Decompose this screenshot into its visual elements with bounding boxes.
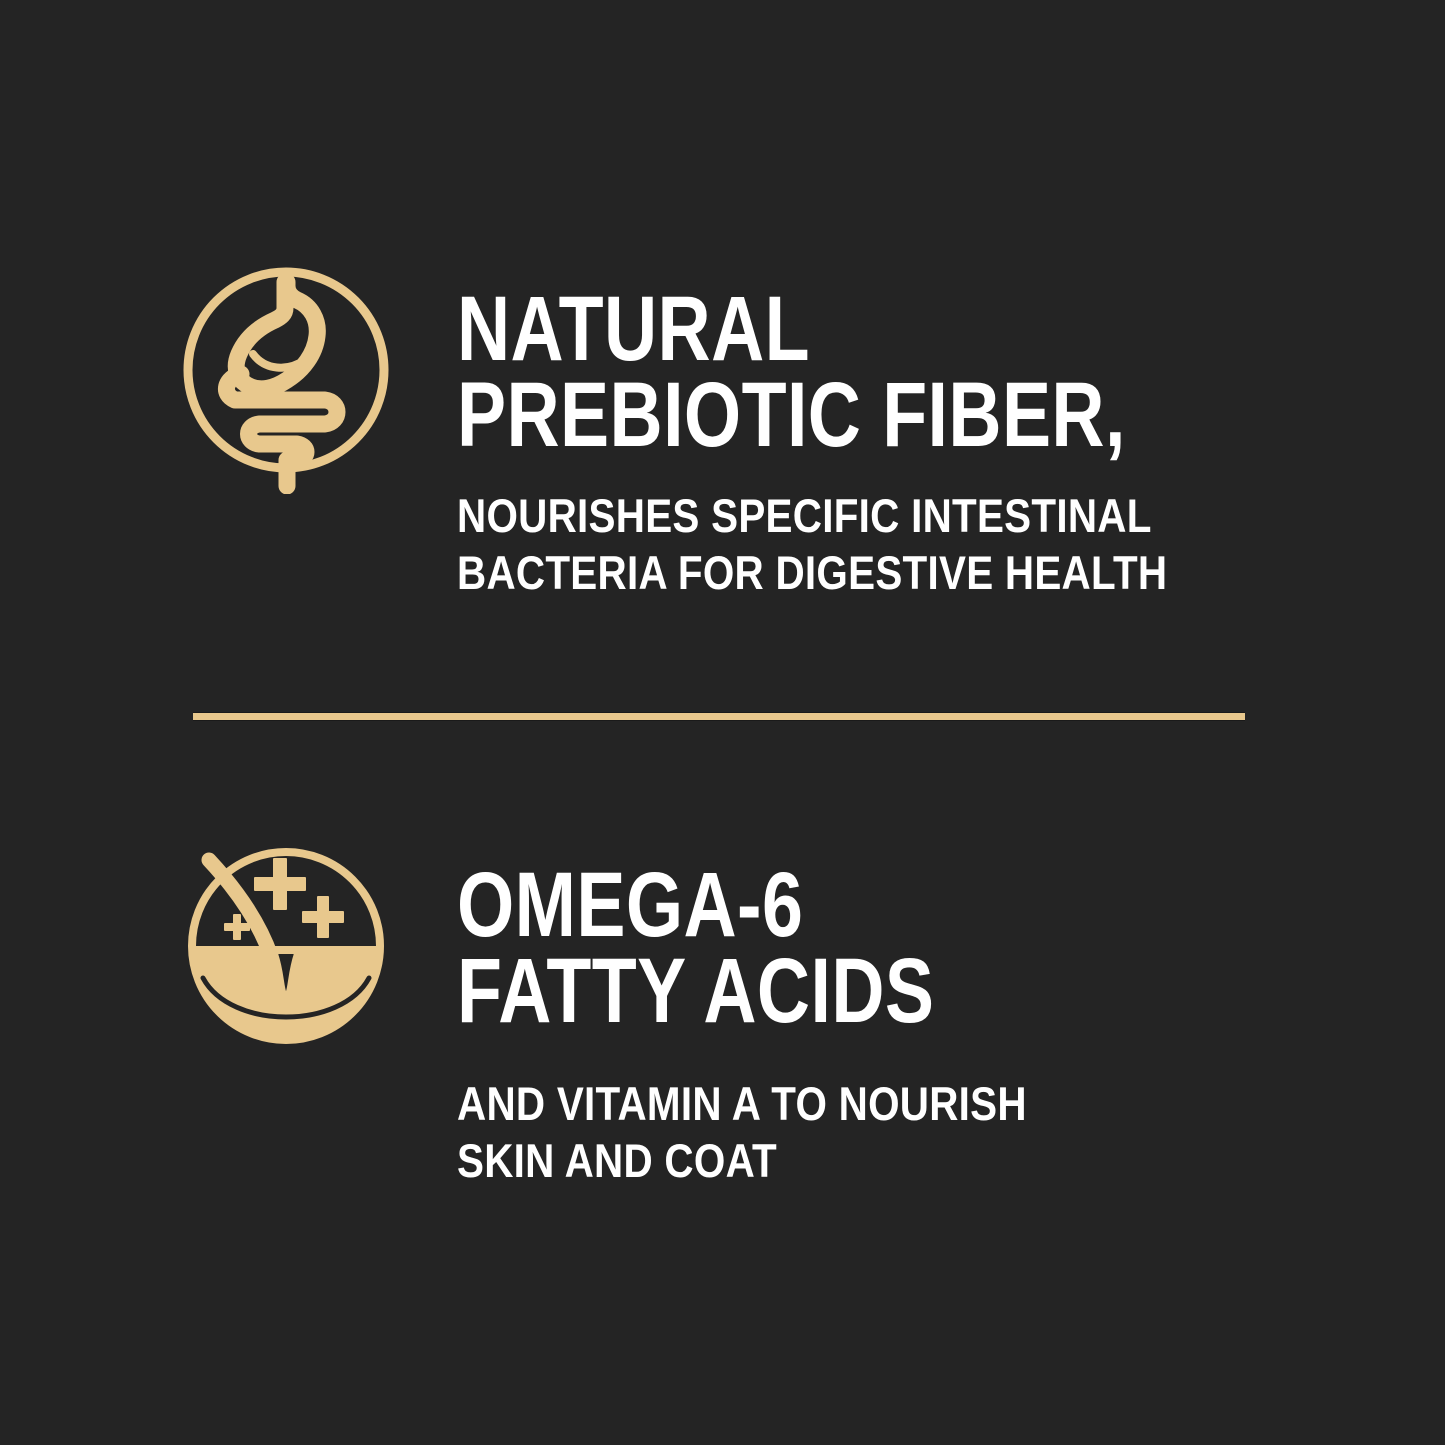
subline-line-2: SKIN AND COAT bbox=[457, 1132, 1027, 1189]
digestive-stomach-intestine-icon bbox=[175, 262, 397, 494]
benefit-block-omega-6: OMEGA-6 FATTY ACIDS AND VITAMIN A TO NOU… bbox=[175, 838, 1120, 1190]
headline-line-2: FATTY ACIDS bbox=[457, 948, 987, 1034]
skin-hair-follicle-icon bbox=[175, 838, 397, 1070]
sparkle-plus-large bbox=[254, 858, 306, 910]
subline-line-1: AND VITAMIN A TO NOURISH bbox=[457, 1075, 1027, 1132]
benefit-headline-omega-6: OMEGA-6 FATTY ACIDS bbox=[457, 862, 987, 1035]
benefit-subline-omega-6: AND VITAMIN A TO NOURISH SKIN AND COAT bbox=[457, 1075, 1027, 1190]
benefit-text-prebiotic-fiber: NATURAL PREBIOTIC FIBER, NOURISHES SPECI… bbox=[457, 262, 1293, 602]
headline-line-1: OMEGA-6 bbox=[457, 862, 987, 948]
benefit-subline-prebiotic-fiber: NOURISHES SPECIFIC INTESTINAL BACTERIA F… bbox=[457, 487, 1176, 602]
benefit-text-omega-6: OMEGA-6 FATTY ACIDS AND VITAMIN A TO NOU… bbox=[457, 838, 1120, 1190]
headline-line-1: NATURAL bbox=[457, 286, 1126, 372]
headline-line-2: PREBIOTIC FIBER, bbox=[457, 372, 1126, 458]
benefit-headline-prebiotic-fiber: NATURAL PREBIOTIC FIBER, bbox=[457, 286, 1126, 459]
section-divider bbox=[193, 712, 1245, 721]
benefit-block-prebiotic-fiber: NATURAL PREBIOTIC FIBER, NOURISHES SPECI… bbox=[175, 262, 1293, 602]
subline-line-2: BACTERIA FOR DIGESTIVE HEALTH bbox=[457, 544, 1176, 601]
benefits-panel: NATURAL PREBIOTIC FIBER, NOURISHES SPECI… bbox=[0, 0, 1445, 1445]
sparkle-plus-medium bbox=[302, 896, 344, 938]
subline-line-1: NOURISHES SPECIFIC INTESTINAL bbox=[457, 487, 1176, 544]
